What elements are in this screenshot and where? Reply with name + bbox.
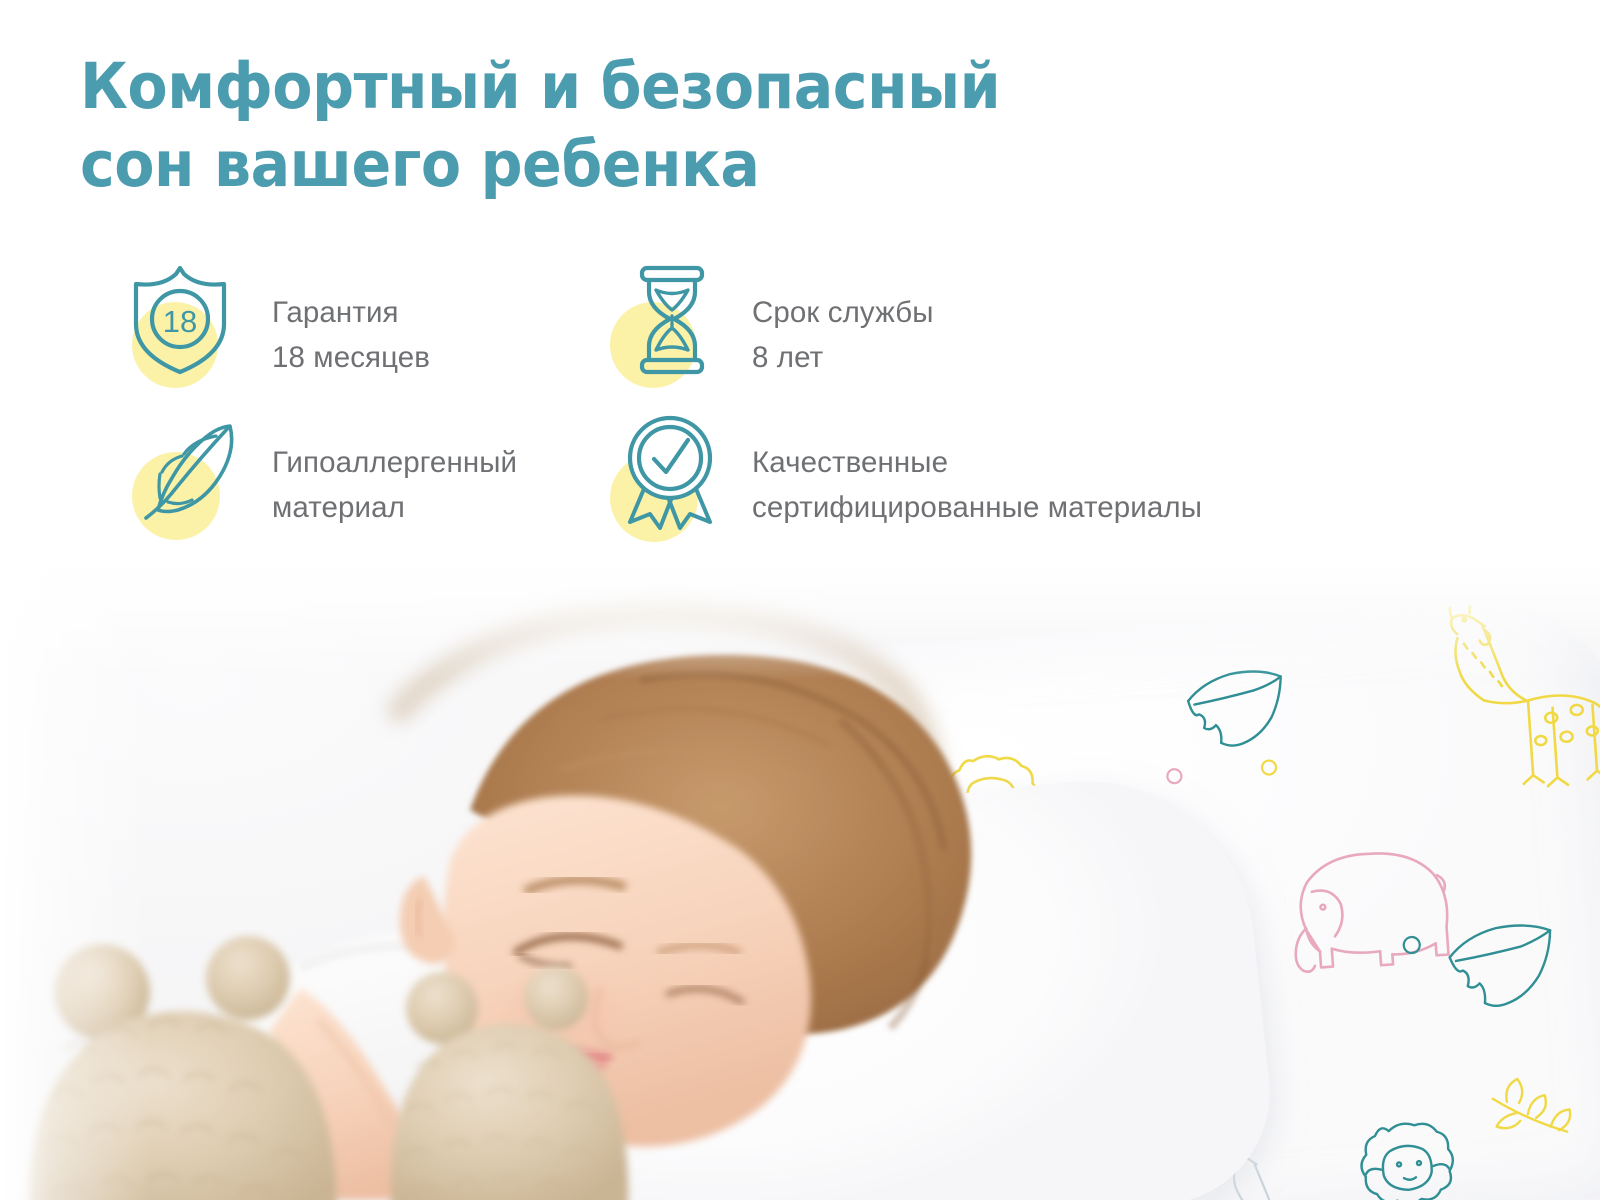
- feature-line-2: материал: [272, 485, 517, 530]
- feature-icon-hypoallergenic: [128, 412, 250, 542]
- teddy-bear-left: [20, 930, 350, 1200]
- hourglass-icon: [620, 262, 724, 378]
- shield-18-icon: 18: [128, 262, 232, 378]
- page-title: Комфортный и безопасный сон вашего ребен…: [80, 48, 1180, 204]
- award-check-icon: [616, 412, 728, 532]
- feature-list: 18 Гарантия 18 месяцев: [128, 262, 1378, 562]
- feature-item-certified: Качественные сертифицированные материалы: [608, 412, 1308, 562]
- feature-line-1: Гипоаллергенный: [272, 440, 517, 485]
- hero-photo: [0, 560, 1600, 1200]
- feature-icon-service-life: [608, 262, 730, 392]
- feature-line-2: 18 месяцев: [272, 335, 430, 380]
- feature-item-warranty: 18 Гарантия 18 месяцев: [128, 262, 608, 412]
- feature-text-warranty: Гарантия 18 месяцев: [272, 262, 430, 380]
- page-title-line-1: Комфортный и безопасный: [80, 48, 1103, 126]
- feature-icon-warranty: 18: [128, 262, 250, 392]
- feature-text-certified: Качественные сертифицированные материалы: [752, 412, 1202, 530]
- feature-line-1: Гарантия: [272, 290, 430, 335]
- feature-line-2: сертифицированные материалы: [752, 485, 1202, 530]
- hero-photo-inner: [0, 560, 1600, 1200]
- feature-item-service-life: Срок службы 8 лет: [608, 262, 1308, 412]
- teddy-bear-right: [380, 960, 640, 1200]
- feature-line-2: 8 лет: [752, 335, 934, 380]
- feature-icon-certified: [608, 412, 730, 542]
- feather-icon: [132, 416, 246, 528]
- promo-page: Комфортный и безопасный сон вашего ребен…: [0, 0, 1600, 1200]
- feature-text-service-life: Срок службы 8 лет: [752, 262, 934, 380]
- feature-item-hypoallergenic: Гипоаллергенный материал: [128, 412, 608, 562]
- page-title-line-2: сон вашего ребенка: [80, 126, 1103, 204]
- feature-line-1: Качественные: [752, 440, 1202, 485]
- feature-line-1: Срок службы: [752, 290, 934, 335]
- shield-badge-number: 18: [163, 304, 197, 339]
- feature-text-hypoallergenic: Гипоаллергенный материал: [272, 412, 517, 530]
